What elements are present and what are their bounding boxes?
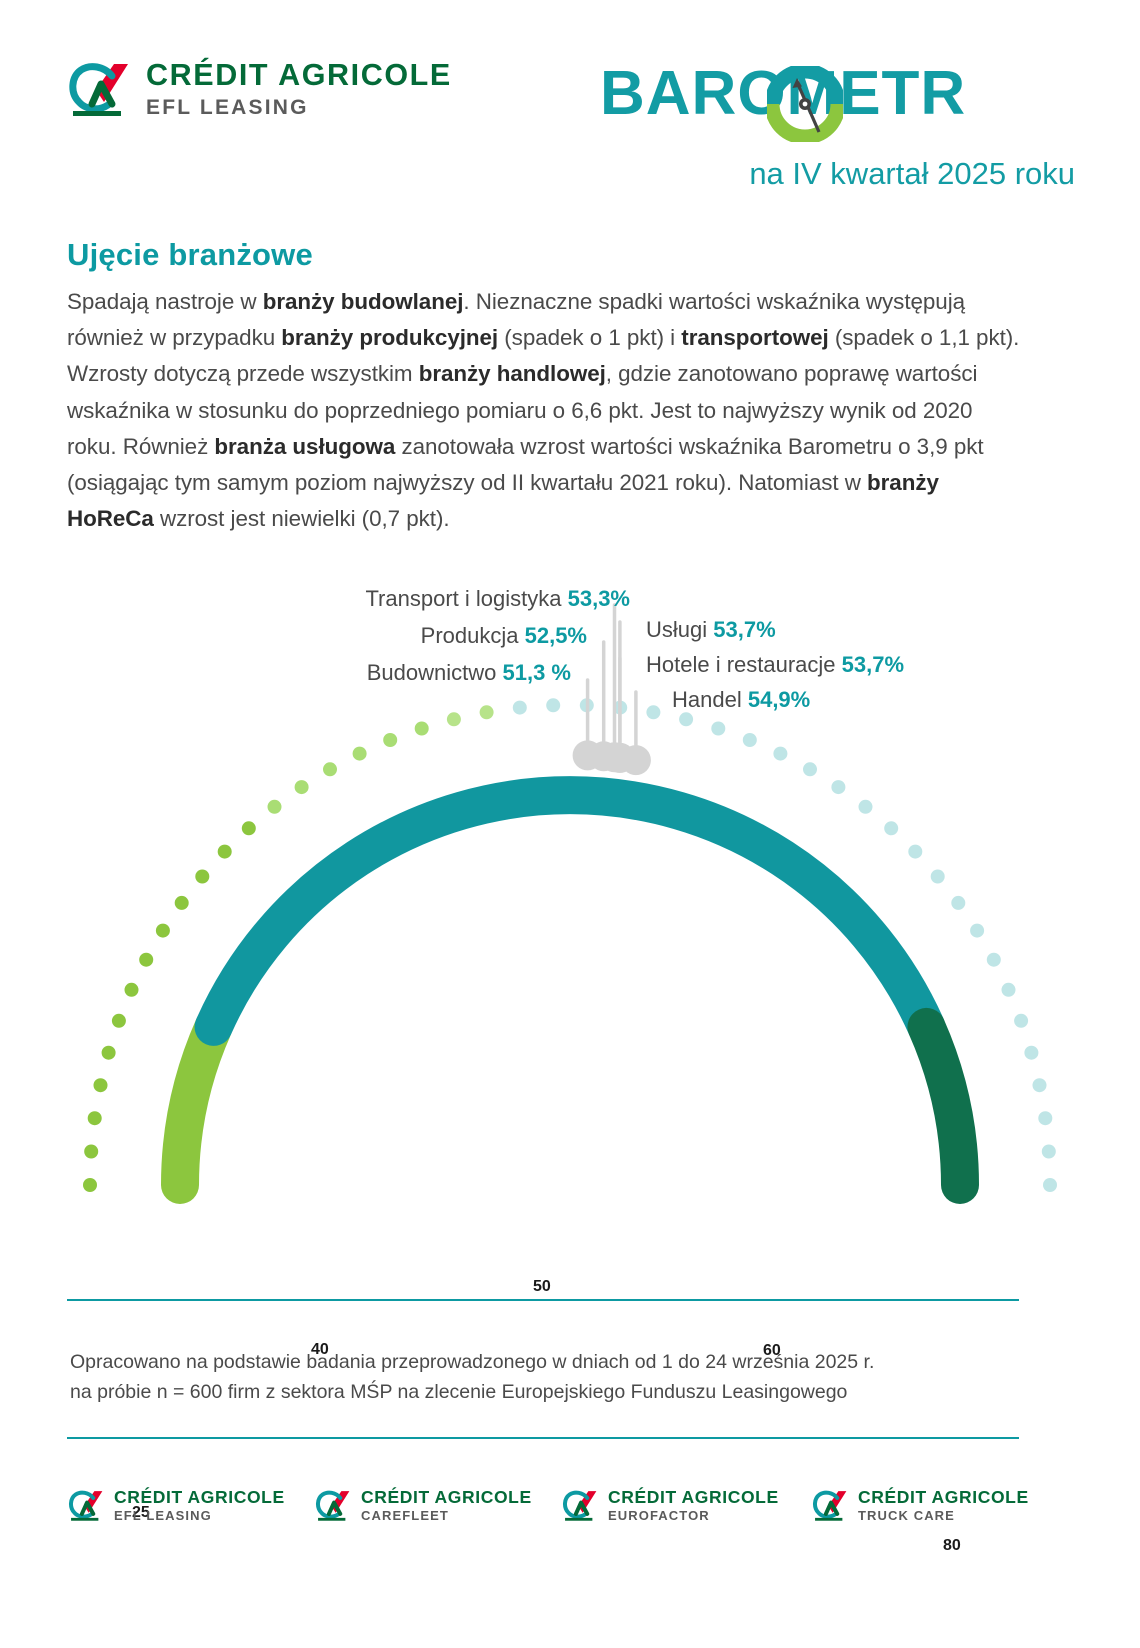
- scale-dot: [546, 698, 560, 712]
- scale-dot: [1014, 1014, 1028, 1028]
- gauge-label-uslugi: Usługi 53,7%: [646, 616, 776, 644]
- scale-dot: [102, 1046, 116, 1060]
- footer-logo-name: CRÉDIT AGRICOLE: [114, 1487, 285, 1508]
- barometer-gauge-chart: Transport i logistyka 53,3% Produkcja 52…: [0, 560, 1140, 1260]
- footer-logo-truck-care: CRÉDIT AGRICOLETRUCK CARE: [812, 1487, 1062, 1531]
- scale-dot: [970, 924, 984, 938]
- gauge-arc-bands: [180, 795, 960, 1185]
- scale-dot: [268, 800, 282, 814]
- scale-dot: [447, 712, 461, 726]
- scale-dot: [908, 845, 922, 859]
- footer-logo-unit: CAREFLEET: [361, 1508, 449, 1523]
- gauge-label-transport-value: 53,3%: [568, 586, 630, 611]
- footer-logo-name: CRÉDIT AGRICOLE: [361, 1487, 532, 1508]
- divider-top: [67, 1299, 1019, 1301]
- gauge-label-hotele-value: 53,7%: [842, 652, 904, 677]
- scale-dot: [480, 705, 494, 719]
- scale-dot: [1033, 1078, 1047, 1092]
- gauge-label-budownictwo-name: Budownictwo: [367, 660, 497, 685]
- brand-unit: EFL LEASING: [146, 95, 452, 121]
- gauge-label-produkcja-name: Produkcja: [421, 623, 519, 648]
- footer-logo-name: CRÉDIT AGRICOLE: [608, 1487, 779, 1508]
- gauge-dial-icon: [767, 66, 843, 142]
- gauge-label-handel-value: 54,9%: [748, 687, 810, 712]
- footer-logo-unit: EFL LEASING: [114, 1508, 212, 1523]
- pin-head: [621, 745, 651, 775]
- gauge-label-hotele: Hotele i restauracje 53,7%: [646, 651, 904, 679]
- gauge-label-uslugi-name: Usługi: [646, 617, 707, 642]
- scale-tick-50: 50: [533, 1278, 551, 1296]
- gauge-label-produkcja: Produkcja 52,5%: [110, 622, 587, 650]
- footer-logo-eurofactor: CRÉDIT AGRICOLEEUROFACTOR: [562, 1487, 812, 1531]
- scale-dot: [1043, 1178, 1057, 1192]
- scale-dot: [711, 722, 725, 736]
- scale-dot: [773, 747, 787, 761]
- infographic-page: CRÉDIT AGRICOLE EFL LEASING BAROMETR na …: [0, 0, 1140, 1648]
- scale-dot: [83, 1178, 97, 1192]
- footer-logo-efl-leasing: CRÉDIT AGRICOLEEFL LEASING: [68, 1487, 318, 1531]
- scale-dot: [125, 983, 139, 997]
- scale-dot: [323, 762, 337, 776]
- brand-name: CRÉDIT AGRICOLE: [146, 58, 452, 92]
- scale-dot: [383, 733, 397, 747]
- gauge-band-or: [214, 795, 927, 1027]
- scale-dot: [1002, 983, 1016, 997]
- scale-dot: [743, 733, 757, 747]
- credit-agricole-logo: CRÉDIT AGRICOLE EFL LEASING: [68, 58, 468, 134]
- gauge-label-produkcja-value: 52,5%: [525, 623, 587, 648]
- gauge-band-r: [926, 1027, 960, 1185]
- brand-wordmark: CRÉDIT AGRICOLE EFL LEASING: [146, 58, 452, 121]
- gauge-label-hotele-name: Hotele i restauracje: [646, 652, 836, 677]
- page-header: CRÉDIT AGRICOLE EFL LEASING BAROMETR na …: [0, 0, 1140, 215]
- scale-dot: [1024, 1046, 1038, 1060]
- footer-logo-name: CRÉDIT AGRICOLE: [858, 1487, 1029, 1508]
- scale-dot: [195, 870, 209, 884]
- divider-bottom: [67, 1437, 1019, 1439]
- scale-dot: [679, 712, 693, 726]
- scale-dot: [242, 821, 256, 835]
- source-note-line1: Opracowano na podstawie badania przeprow…: [70, 1347, 1030, 1377]
- scale-dot: [415, 722, 429, 736]
- scale-tick-80: 80: [943, 1537, 961, 1555]
- scale-dot: [951, 896, 965, 910]
- scale-dot: [94, 1078, 108, 1092]
- scale-dot: [88, 1111, 102, 1125]
- scale-dot: [139, 953, 153, 967]
- scale-dot: [646, 705, 660, 719]
- gauge-label-transport: Transport i logistyka 53,3%: [110, 585, 630, 613]
- barometr-subtitle: na IV kwartał 2025 roku: [605, 154, 1075, 194]
- scale-dot: [1042, 1145, 1056, 1159]
- scale-dot: [884, 821, 898, 835]
- footer-logo-unit: EUROFACTOR: [608, 1508, 710, 1523]
- barometr-logo: BAROMETR na IV kwartał 2025 roku: [600, 58, 1070, 198]
- scale-dot: [218, 845, 232, 859]
- credit-agricole-ca-mark-icon: [68, 1490, 106, 1523]
- gauge-label-uslugi-value: 53,7%: [713, 617, 775, 642]
- scale-dot: [987, 953, 1001, 967]
- scale-dot: [295, 780, 309, 794]
- gauge-label-transport-name: Transport i logistyka: [365, 586, 561, 611]
- scale-dot: [84, 1145, 98, 1159]
- section-title: Ujęcie branżowe: [67, 237, 313, 273]
- scale-dot: [931, 870, 945, 884]
- scale-dot: [1038, 1111, 1052, 1125]
- credit-agricole-ca-mark-icon: [315, 1490, 353, 1523]
- scale-dot: [513, 701, 527, 715]
- footer-logo-unit: TRUCK CARE: [858, 1508, 955, 1523]
- scale-dot: [831, 780, 845, 794]
- source-note-line2: na próbie n = 600 firm z sektora MŚP na …: [70, 1377, 1030, 1407]
- gauge-label-handel: Handel 54,9%: [672, 686, 810, 714]
- credit-agricole-ca-mark-icon: [812, 1490, 850, 1523]
- scale-dot: [803, 762, 817, 776]
- scale-dot: [156, 924, 170, 938]
- gauge-label-budownictwo-value: 51,3 %: [503, 660, 572, 685]
- gauge-scale-dots: [83, 698, 1057, 1192]
- credit-agricole-ca-mark-icon: [68, 62, 134, 120]
- footer-logo-carefleet: CRÉDIT AGRICOLECAREFLEET: [315, 1487, 565, 1531]
- scale-dot: [112, 1014, 126, 1028]
- gauge-label-handel-name: Handel: [672, 687, 742, 712]
- scale-dot: [175, 896, 189, 910]
- scale-dot: [859, 800, 873, 814]
- section-paragraph: Spadają nastroje w branży budowlanej. Ni…: [67, 284, 1027, 537]
- gauge-label-budownictwo: Budownictwo 51,3 %: [110, 659, 571, 687]
- scale-dot: [353, 747, 367, 761]
- credit-agricole-ca-mark-icon: [562, 1490, 600, 1523]
- gauge-band-minus-r: [180, 1027, 214, 1185]
